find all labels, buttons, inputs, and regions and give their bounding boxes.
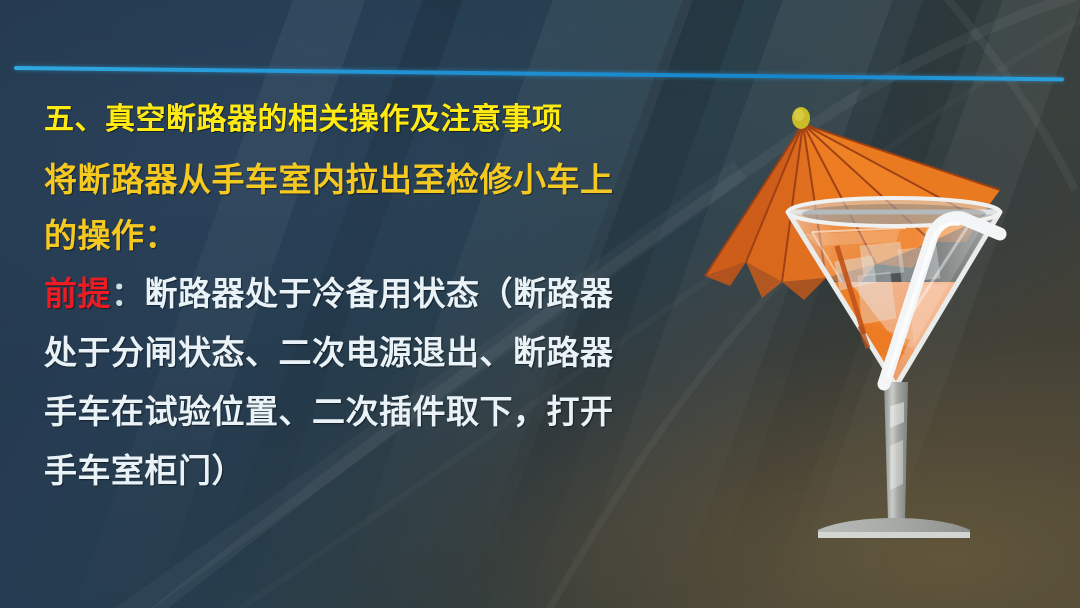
premise-first-line: 前提：断路器处于冷备用状态（断路器 <box>44 264 694 323</box>
premise-line-4: 手车室柜门） <box>44 441 694 500</box>
subtitle-line-2: 的操作： <box>44 208 694 264</box>
premise-colon: ： <box>111 275 145 312</box>
slide-text-block: 五、真空断路器的相关操作及注意事项 将断路器从手车室内拉出至检修小车上 的操作：… <box>44 98 694 500</box>
premise-first-line-rest: 断路器处于冷备用状态（断路器 <box>145 275 614 312</box>
slide-canvas: 五、真空断路器的相关操作及注意事项 将断路器从手车室内拉出至检修小车上 的操作：… <box>0 0 1080 608</box>
page-title: 五、真空断路器的相关操作及注意事项 <box>44 98 694 142</box>
subtitle-line-1: 将断路器从手车室内拉出至检修小车上 <box>44 152 694 208</box>
premise-line-3: 手车在试验位置、二次插件取下，打开 <box>44 382 694 441</box>
premise-line-2: 处于分闸状态、二次电源退出、断路器 <box>44 323 694 382</box>
premise-label: 前提 <box>44 275 111 312</box>
